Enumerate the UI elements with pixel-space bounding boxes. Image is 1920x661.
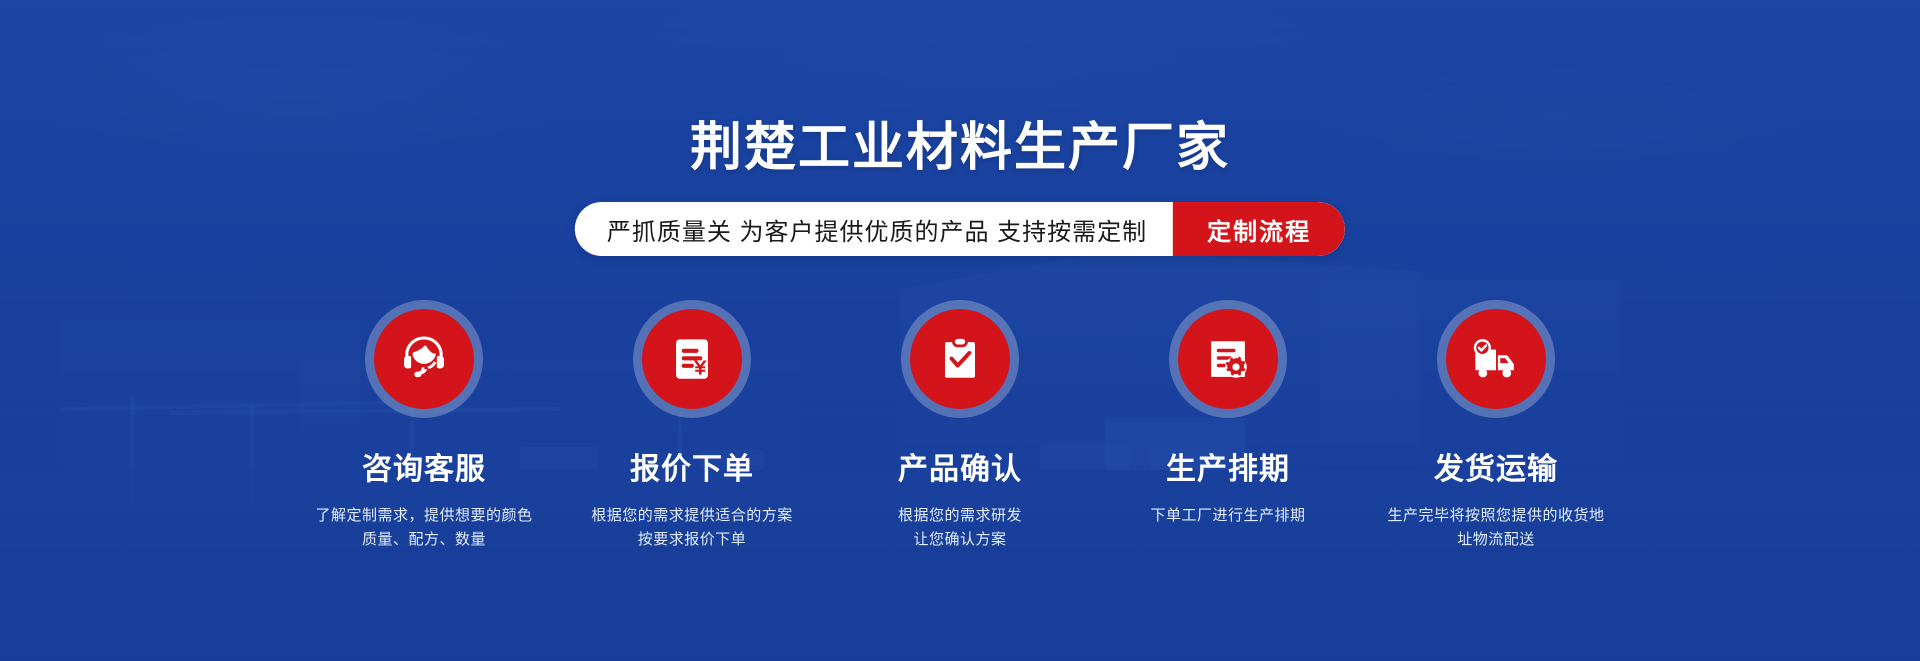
process-step-5-desc: 生产完毕将按照您提供的收货地 址物流配送 — [1362, 504, 1630, 552]
process-step-1-desc-line1: 了解定制需求，提供想要的颜色 — [315, 507, 532, 524]
process-step-5-title: 发货运输 — [1362, 444, 1630, 488]
process-step-4-desc-line1: 下单工厂进行生产排期 — [1150, 507, 1305, 524]
banner-content: 荆楚工业材料生产厂家 严抓质量关 为客户提供优质的产品 支持按需定制 定制流程 — [0, 0, 1920, 661]
process-step-2-desc-line1: 根据您的需求提供适合的方案 — [591, 507, 793, 524]
page-title: 荆楚工业材料生产厂家 — [0, 105, 1920, 180]
delivery-truck-check-icon — [1466, 329, 1526, 389]
process-step-4-title: 生产排期 — [1094, 444, 1362, 488]
clipboard-check-icon — [930, 329, 990, 389]
process-step-1-desc: 了解定制需求，提供想要的颜色 质量、配方、数量 — [290, 504, 558, 552]
process-step-3-title: 产品确认 — [826, 444, 1094, 488]
process-step-4: 生产排期 下单工厂进行生产排期 — [1094, 300, 1362, 552]
process-step-2-title: 报价下单 — [558, 444, 826, 488]
process-step-3: 产品确认 根据您的需求研发 让您确认方案 — [826, 300, 1094, 552]
tagline-text: 严抓质量关 为客户提供优质的产品 支持按需定制 — [575, 202, 1173, 256]
process-step-3-desc-line1: 根据您的需求研发 — [898, 507, 1022, 524]
process-step-3-icon-circle[interactable] — [901, 300, 1019, 418]
process-step-1-title: 咨询客服 — [290, 444, 558, 488]
process-step-2: 报价下单 根据您的需求提供适合的方案 按要求报价下单 — [558, 300, 826, 552]
quote-invoice-yuan-icon — [662, 329, 722, 389]
process-step-1-desc-line2: 质量、配方、数量 — [362, 531, 486, 548]
document-gear-icon — [1198, 329, 1258, 389]
process-step-3-desc: 根据您的需求研发 让您确认方案 — [826, 504, 1094, 552]
process-step-5-icon-circle[interactable] — [1437, 300, 1555, 418]
tagline-pill: 严抓质量关 为客户提供优质的产品 支持按需定制 定制流程 — [575, 202, 1345, 256]
process-steps: 咨询客服 了解定制需求，提供想要的颜色 质量、配方、数量 — [290, 300, 1630, 552]
process-step-4-icon-circle[interactable] — [1169, 300, 1287, 418]
process-step-5-desc-line1: 生产完毕将按照您提供的收货地 — [1387, 507, 1604, 524]
process-step-2-desc-line2: 按要求报价下单 — [638, 531, 747, 548]
process-step-2-desc: 根据您的需求提供适合的方案 按要求报价下单 — [558, 504, 826, 552]
process-step-3-desc-line2: 让您确认方案 — [913, 531, 1006, 548]
custom-process-button[interactable]: 定制流程 — [1173, 202, 1345, 256]
process-step-4-desc: 下单工厂进行生产排期 — [1094, 504, 1362, 528]
process-step-5-desc-line2: 址物流配送 — [1457, 531, 1535, 548]
process-step-2-icon-circle[interactable] — [633, 300, 751, 418]
custom-process-banner: 荆楚工业材料生产厂家 严抓质量关 为客户提供优质的产品 支持按需定制 定制流程 — [0, 0, 1920, 661]
headset-support-icon — [394, 329, 454, 389]
process-step-1: 咨询客服 了解定制需求，提供想要的颜色 质量、配方、数量 — [290, 300, 558, 552]
process-step-5: 发货运输 生产完毕将按照您提供的收货地 址物流配送 — [1362, 300, 1630, 552]
process-step-1-icon-circle[interactable] — [365, 300, 483, 418]
